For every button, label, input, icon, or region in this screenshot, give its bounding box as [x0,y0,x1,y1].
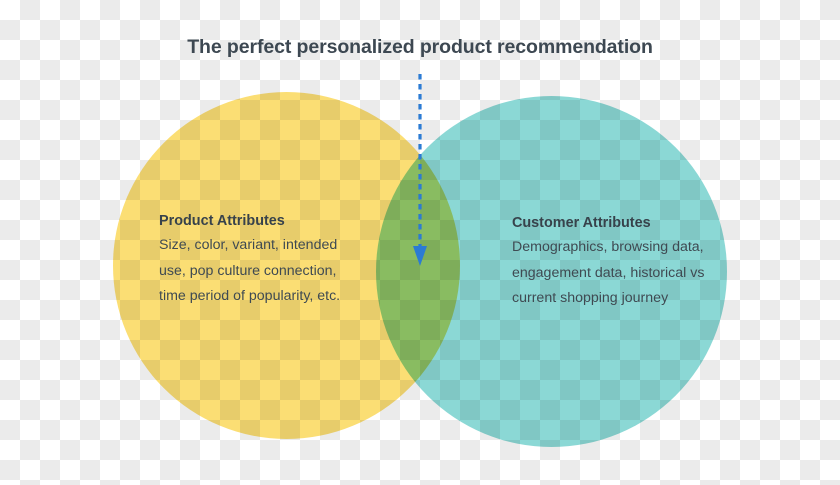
dashed-down-arrow-icon [404,70,440,270]
product-attributes-body: Size, color, variant, intended use, pop … [159,233,354,310]
customer-attributes-body: Demographics, browsing data, engagement … [512,235,712,312]
dashed-down-arrow-container [404,70,440,270]
product-attributes-heading: Product Attributes [159,209,354,233]
venn-diagram-canvas: The perfect personalized product recomme… [0,0,840,485]
customer-attributes-heading: Customer Attributes [512,211,712,235]
customer-attributes-text-block: Customer Attributes Demographics, browsi… [512,211,712,312]
page-title: The perfect personalized product recomme… [0,36,840,59]
product-attributes-text-block: Product Attributes Size, color, variant,… [159,209,354,310]
